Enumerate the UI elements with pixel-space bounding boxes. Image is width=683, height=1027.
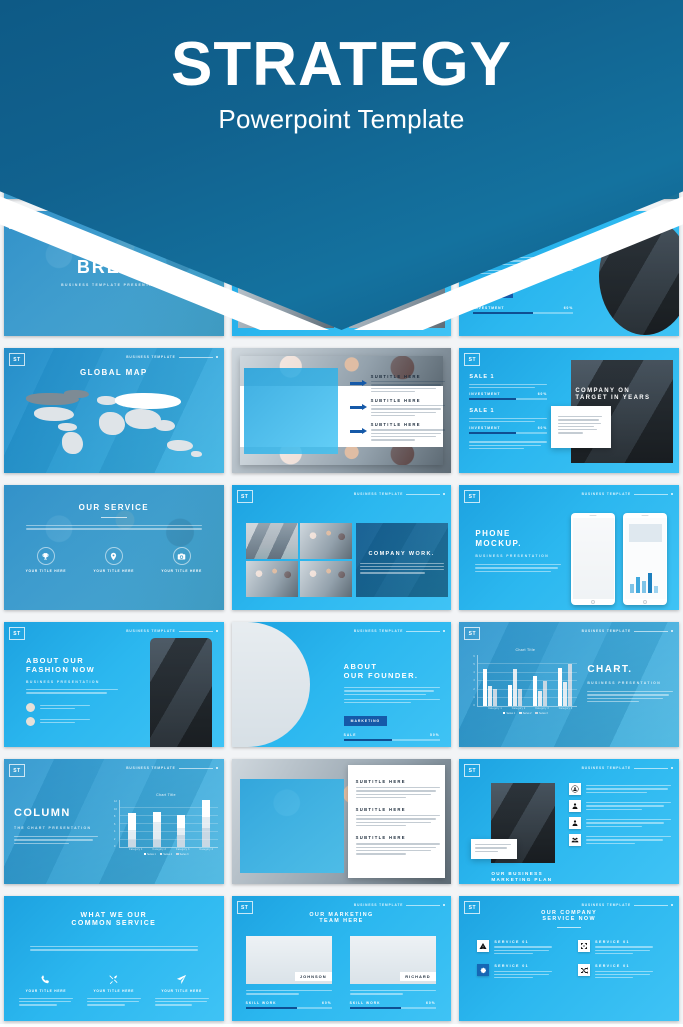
plot-area bbox=[477, 655, 577, 707]
x-tick: Category 2 bbox=[512, 707, 526, 710]
fashion-phone-photo bbox=[150, 638, 212, 747]
common-service-items: YOUR TITLE HERE YOUR TITLE HERE YOUR TIT… bbox=[12, 974, 216, 1006]
y-tick: 0 bbox=[114, 845, 117, 848]
list-item[interactable]: SERVICE 01 bbox=[477, 940, 564, 954]
slide-fashion[interactable]: ST BUSINESS TEMPLATE ABOUT OUR FASHION N… bbox=[4, 622, 224, 747]
slide-cover-a bbox=[232, 6, 452, 199]
slide-company-service[interactable]: ST BUSINESS TEMPLATE OUR COMPANY SERVICE… bbox=[459, 896, 679, 1021]
slide-cell-founder[interactable]: BUSINESS TEMPLATE ABOUT OUR FOUNDER. MAR… bbox=[228, 616, 456, 753]
x-tick: Category 1 bbox=[488, 707, 502, 710]
slide-cell-sale[interactable]: ST SALE 1 INVESTMENT60% SALE 1 INVESTMEN… bbox=[455, 342, 683, 479]
slide-stats[interactable]: 647 CLIENTS PRO bbox=[4, 6, 224, 199]
slide-cell-subtitles-b[interactable]: SUBTITLE HERE SUBTITLE HERE SUBTITLE HER… bbox=[228, 753, 456, 890]
member-bar-value: 60% bbox=[426, 1001, 436, 1005]
company-service-title-2: SERVICE NOW bbox=[459, 916, 679, 922]
user-badge-icon bbox=[569, 783, 581, 795]
member-name: RICHARD bbox=[400, 972, 435, 981]
slide-chart[interactable]: ST BUSINESS TEMPLATE Chart Title 6 5 4 3 bbox=[459, 622, 679, 747]
work-photo-3 bbox=[246, 561, 298, 597]
user-icon bbox=[569, 817, 581, 829]
rule-dot bbox=[216, 630, 218, 632]
slide-top-right-label: BUSINESS TEMPLATE bbox=[354, 629, 445, 633]
slide-cell-marketing-plan[interactable]: ST BUSINESS TEMPLATE OUR BUSINESS MARKET… bbox=[455, 753, 683, 890]
rule-line bbox=[179, 220, 213, 221]
rule-line bbox=[406, 494, 440, 495]
rule-dot bbox=[443, 630, 445, 632]
slide-cell-subtitles-a[interactable]: SUBTITLE HERE SUBTITLE HERE bbox=[228, 342, 456, 479]
slide-photo-pair[interactable] bbox=[232, 211, 452, 336]
common-service-title-2: COMMON SERVICE bbox=[4, 920, 224, 928]
offices-bar-value: 60% bbox=[564, 306, 574, 310]
phone-mockup-left bbox=[571, 513, 615, 605]
team-title-2: TEAM HERE bbox=[232, 918, 452, 924]
y-tick: 6 bbox=[114, 823, 117, 826]
chart-legend: Series 1 Series 2 Series 3 bbox=[473, 712, 577, 715]
slide-grid: 647 CLIENTS PRO bbox=[0, 0, 683, 1024]
list-item[interactable]: SUBTITLE HERE bbox=[350, 374, 450, 392]
list-item[interactable]: YOUR TITLE HERE bbox=[93, 547, 134, 574]
slide-top-right-label: BUSINESS TEMPLATE bbox=[354, 903, 445, 907]
bullet-dot bbox=[26, 703, 35, 712]
top-right-text: BUSINESS TEMPLATE bbox=[582, 903, 631, 907]
list-item[interactable] bbox=[569, 834, 671, 846]
member-name: JOHNSON bbox=[295, 972, 332, 981]
arrow-right-icon bbox=[350, 404, 367, 411]
slide-cell-team[interactable]: ST BUSINESS TEMPLATE OUR MARKETING TEAM … bbox=[228, 890, 456, 1027]
work-photo-1 bbox=[246, 523, 298, 559]
rule-line bbox=[179, 768, 213, 769]
slide-founder[interactable]: BUSINESS TEMPLATE ABOUT OUR FOUNDER. MAR… bbox=[232, 622, 452, 747]
offices-title-2: OUR OFFICES. bbox=[473, 240, 583, 249]
legend-item: Series 3 bbox=[176, 853, 188, 856]
member-bar-label: SKILL WORK bbox=[246, 1001, 277, 1005]
common-service-title-1: WHAT WE OUR bbox=[4, 912, 224, 920]
item-title: YOUR TITLE HERE bbox=[161, 989, 202, 994]
item-title: YOUR TITLE HERE bbox=[93, 989, 134, 994]
sale-progress-bar-1 bbox=[469, 398, 547, 400]
global-map-title: GLOBAL MAP bbox=[4, 368, 224, 378]
location-pin-icon bbox=[105, 547, 123, 565]
offices-bar-label: INVESTMENT bbox=[473, 306, 504, 310]
member-bar-label: SKILL WORK bbox=[350, 1001, 381, 1005]
blue-tint-overlay bbox=[4, 6, 224, 199]
st-badge: ST bbox=[9, 216, 25, 229]
slide-global-map[interactable]: ST BUSINESS TEMPLATE GLOBAL MAP bbox=[4, 348, 224, 473]
slide-cell-company-work[interactable]: ST BUSINESS TEMPLATE COMPANY WORK. bbox=[228, 479, 456, 616]
top-right-text: BUSINESS TEMPLATE bbox=[354, 903, 403, 907]
list-item[interactable]: SUBTITLE HERE bbox=[350, 422, 450, 440]
st-badge: ST bbox=[9, 764, 25, 777]
photo-right bbox=[349, 219, 445, 328]
paper-plane-icon bbox=[176, 974, 187, 985]
top-right-text: BUSINESS TEMPLATE bbox=[582, 766, 631, 770]
rule-line bbox=[634, 905, 668, 906]
rule-dot bbox=[671, 630, 673, 632]
top-right-text: BUSINESS TEMPLATE bbox=[354, 492, 403, 496]
slide-cell-global-map[interactable]: ST BUSINESS TEMPLATE GLOBAL MAP bbox=[0, 342, 228, 479]
team-member-johnson[interactable]: JOHNSON SKILL WORK60% bbox=[246, 936, 332, 1009]
y-tick: 1 bbox=[473, 696, 475, 699]
our-service-title: OUR SERVICE bbox=[4, 503, 224, 513]
slide-cell-company-service[interactable]: ST BUSINESS TEMPLATE OUR COMPANY SERVICE… bbox=[455, 890, 683, 1027]
phone-title-2: MOCKUP. bbox=[475, 539, 561, 549]
list-item[interactable]: SERVICE 01 bbox=[578, 940, 665, 954]
subtitle-heading: SUBTITLE HERE bbox=[371, 374, 445, 379]
offices-progress-bar bbox=[473, 312, 573, 314]
phone-mockup-right bbox=[623, 513, 667, 605]
slide-cell-stats[interactable]: 647 CLIENTS PRO bbox=[0, 0, 228, 205]
rule-line bbox=[179, 357, 213, 358]
sale-headline-1: COMPANY ON bbox=[575, 388, 671, 395]
slide-cover-b bbox=[459, 6, 679, 199]
gear-icon bbox=[477, 964, 489, 976]
y-tick: 5 bbox=[473, 663, 475, 666]
item-title: SERVICE 01 bbox=[595, 940, 653, 944]
top-right-text: BUSINESS TEMPLATE bbox=[126, 766, 175, 770]
y-tick: 8 bbox=[114, 815, 117, 818]
stat-label: CLIENTS bbox=[20, 76, 74, 81]
list-item[interactable]: YOUR TITLE HERE bbox=[151, 974, 213, 1006]
sale-bar-value-2: 60% bbox=[538, 426, 548, 430]
stat-second-label: PRO bbox=[104, 68, 154, 73]
founder-title-1: ABOUT bbox=[344, 662, 440, 671]
slide-cell-column[interactable]: ST BUSINESS TEMPLATE COLUMN THE CHART PR… bbox=[0, 753, 228, 890]
founder-photo bbox=[232, 622, 310, 747]
y-tick: 4 bbox=[473, 671, 475, 674]
template-preview-board: 647 CLIENTS PRO bbox=[0, 0, 683, 1024]
rule-dot bbox=[216, 767, 218, 769]
x-tick: Category 1 bbox=[129, 848, 143, 851]
item-title: YOUR TITLE HERE bbox=[26, 569, 67, 574]
slide-top-right-label: BUSINESS TEMPLATE bbox=[582, 492, 673, 496]
grouped-bar-chart: Chart Title 6 5 4 3 2 1 0 bbox=[473, 648, 577, 715]
item-title: YOUR TITLE HERE bbox=[93, 569, 134, 574]
slide-our-service[interactable]: OUR SERVICE YOUR TITLE HERE bbox=[4, 485, 224, 610]
item-title: YOUR TITLE HERE bbox=[161, 569, 202, 574]
rule-line bbox=[179, 631, 213, 632]
item-title: SERVICE 01 bbox=[494, 964, 552, 968]
slide-cell-cover-b[interactable] bbox=[455, 0, 683, 205]
slide-cell-our-service[interactable]: OUR SERVICE YOUR TITLE HERE bbox=[0, 479, 228, 616]
rule-line bbox=[634, 494, 668, 495]
list-item[interactable]: SUBTITLE HERE bbox=[356, 779, 440, 798]
slide-cell-chart[interactable]: ST BUSINESS TEMPLATE Chart Title 6 5 4 3 bbox=[455, 616, 683, 753]
founder-title-2: OUR FOUNDER. bbox=[344, 671, 440, 680]
st-badge: ST bbox=[464, 490, 480, 503]
slide-marketing-plan[interactable]: ST BUSINESS TEMPLATE OUR BUSINESS MARKET… bbox=[459, 759, 679, 884]
phone-subtitle: BUSINESS PRESENTATION bbox=[475, 554, 561, 558]
phone-title-1: PHONE bbox=[475, 529, 561, 539]
x-tick: Category 3 bbox=[535, 707, 549, 710]
sale-title-2: SALE 1 bbox=[469, 408, 547, 415]
member-bar-value: 60% bbox=[322, 1001, 332, 1005]
chart-title: Chart Title bbox=[473, 648, 577, 652]
rule-dot bbox=[216, 356, 218, 358]
fashion-title-2: FASHION NOW bbox=[26, 665, 118, 674]
photo-left bbox=[238, 219, 334, 328]
st-badge: ST bbox=[237, 490, 253, 503]
slide-top-right-label: BUSINESS TEMPLATE bbox=[126, 766, 217, 770]
slide-break[interactable]: ST BUSINESS TEMPLATE BREAK BUSINESS TEMP… bbox=[4, 211, 224, 336]
st-badge: ST bbox=[464, 627, 480, 640]
slide-cell-photo-pair[interactable] bbox=[228, 205, 456, 342]
x-tick: Category 4 bbox=[559, 707, 573, 710]
subtitle-list: SUBTITLE HERE SUBTITLE HERE SUBTITLE HER… bbox=[356, 779, 440, 855]
list-item[interactable]: YOUR TITLE HERE bbox=[15, 974, 77, 1006]
rule-line bbox=[406, 905, 440, 906]
subtitle-heading: SUBTITLE HERE bbox=[371, 422, 445, 427]
column-title: COLUMN bbox=[14, 807, 98, 820]
sale-progress-bar-2 bbox=[469, 432, 547, 434]
st-badge: ST bbox=[9, 627, 25, 640]
list-item[interactable]: SUBTITLE HERE bbox=[350, 398, 450, 416]
fashion-subtitle: BUSINESS PRESENTATION bbox=[26, 680, 118, 684]
world-map bbox=[14, 388, 216, 467]
legend-item: Series 2 bbox=[160, 853, 172, 856]
list-item[interactable] bbox=[569, 800, 671, 812]
slide-cell-phone-mockup[interactable]: ST BUSINESS TEMPLATE PHONE MOCKUP. BUSIN… bbox=[455, 479, 683, 616]
stacked-bar-chart: Chart Title 12 10 8 6 4 2 0 bbox=[114, 793, 218, 856]
subtitle-heading: SUBTITLE HERE bbox=[371, 398, 445, 403]
st-badge: ST bbox=[9, 353, 25, 366]
slide-cell-cover-a[interactable] bbox=[228, 0, 456, 205]
arrow-right-icon bbox=[350, 380, 367, 387]
column-subtitle: THE CHART PRESENTATION bbox=[14, 826, 98, 830]
legend-item: Series 3 bbox=[535, 712, 547, 715]
slide-cell-fashion[interactable]: ST BUSINESS TEMPLATE ABOUT OUR FASHION N… bbox=[0, 616, 228, 753]
rule-dot bbox=[443, 904, 445, 906]
y-tick: 4 bbox=[114, 830, 117, 833]
marketing-plan-rows bbox=[569, 783, 671, 846]
y-tick: 0 bbox=[473, 704, 475, 707]
rule-dot bbox=[216, 219, 218, 221]
founder-progress-bar bbox=[344, 739, 440, 741]
founder-bar-value: 50% bbox=[430, 733, 440, 737]
member-progress-bar bbox=[246, 1007, 332, 1009]
y-tick: 10 bbox=[114, 808, 117, 811]
sale-bar-label-2: INVESTMENT bbox=[469, 426, 500, 430]
list-item[interactable]: SERVICE 01 bbox=[578, 964, 665, 978]
legend-item: Series 1 bbox=[144, 853, 156, 856]
slide-top-right-label: BUSINESS TEMPLATE bbox=[582, 766, 673, 770]
stat-number: 647 bbox=[20, 58, 74, 76]
break-title: BREAK bbox=[4, 257, 224, 279]
st-badge: ST bbox=[464, 353, 480, 366]
phone-icon bbox=[40, 974, 51, 985]
break-subtitle: BUSINESS TEMPLATE PRESENTATION bbox=[4, 283, 224, 287]
slide-top-right-label: BUSINESS TEMPLATE bbox=[582, 629, 673, 633]
rule-line bbox=[406, 631, 440, 632]
bullet-dot bbox=[26, 717, 35, 726]
y-tick: 2 bbox=[114, 838, 117, 841]
slide-common-service[interactable]: WHAT WE OUR COMMON SERVICE YOUR TITLE HE… bbox=[4, 896, 224, 1021]
list-item[interactable]: SUBTITLE HERE bbox=[356, 807, 440, 826]
arrow-right-icon bbox=[350, 428, 367, 435]
founder-marketing-button[interactable]: MARKETING bbox=[344, 716, 388, 726]
st-badge: ST bbox=[464, 764, 480, 777]
slide-phone-mockup[interactable]: ST BUSINESS TEMPLATE PHONE MOCKUP. BUSIN… bbox=[459, 485, 679, 610]
list-item[interactable] bbox=[569, 817, 671, 829]
y-tick: 12 bbox=[114, 800, 117, 803]
chart-legend: Series 1 Series 2 Series 3 bbox=[114, 853, 218, 856]
rule-dot bbox=[671, 767, 673, 769]
camera-icon bbox=[173, 547, 191, 565]
top-right-text: BUSINESS TEMPLATE bbox=[582, 492, 631, 496]
slide-top-right-label: BUSINESS TEMPLATE bbox=[126, 355, 217, 359]
chart-slide-subtitle: BUSINESS PRESENTATION bbox=[587, 681, 673, 685]
item-title: SERVICE 01 bbox=[494, 940, 552, 944]
top-right-text: BUSINESS TEMPLATE bbox=[126, 355, 175, 359]
chart-slide-title: CHART. bbox=[587, 664, 673, 676]
list-item[interactable]: SERVICE 01 bbox=[477, 964, 564, 978]
slide-company-work[interactable]: ST BUSINESS TEMPLATE COMPANY WORK. bbox=[232, 485, 452, 610]
offices-business-button[interactable]: BUSINESS bbox=[473, 288, 512, 298]
list-item[interactable]: YOUR TITLE HERE bbox=[161, 547, 202, 574]
trophy-icon bbox=[37, 547, 55, 565]
list-item[interactable]: YOUR TITLE HERE bbox=[26, 547, 67, 574]
slide-cell-common-service[interactable]: WHAT WE OUR COMMON SERVICE YOUR TITLE HE… bbox=[0, 890, 228, 1027]
y-tick: 3 bbox=[473, 679, 475, 682]
subtitle-heading: SUBTITLE HERE bbox=[356, 835, 440, 840]
list-item[interactable] bbox=[569, 783, 671, 795]
rule-dot bbox=[671, 904, 673, 906]
marketing-plan-title-2: MARKETING PLAN bbox=[491, 877, 581, 883]
list-item[interactable]: SUBTITLE HERE bbox=[356, 835, 440, 854]
x-tick: Category 4 bbox=[199, 848, 213, 851]
slide-team[interactable]: ST BUSINESS TEMPLATE OUR MARKETING TEAM … bbox=[232, 896, 452, 1021]
shuffle-icon bbox=[578, 964, 590, 976]
fashion-title-1: ABOUT OUR bbox=[26, 656, 118, 665]
legend-item: Series 1 bbox=[503, 712, 515, 715]
sale-title-1: SALE 1 bbox=[469, 374, 547, 381]
item-title: SERVICE 01 bbox=[595, 964, 653, 968]
our-service-items: YOUR TITLE HERE YOUR TITLE HERE YOUR TIT… bbox=[12, 547, 216, 574]
slide-column[interactable]: ST BUSINESS TEMPLATE COLUMN THE CHART PR… bbox=[4, 759, 224, 884]
top-right-text: BUSINESS TEMPLATE bbox=[126, 629, 175, 633]
team-member-richard[interactable]: RICHARD SKILL WORK60% bbox=[350, 936, 436, 1009]
subtitle-heading: SUBTITLE HERE bbox=[356, 807, 440, 812]
slide-top-right-label: BUSINESS TEMPLATE bbox=[126, 218, 217, 222]
company-service-items: SERVICE 01 SERVICE 01 bbox=[477, 940, 665, 978]
offices-title-1: ABOUT bbox=[473, 231, 583, 240]
slide-top-right-label: BUSINESS TEMPLATE bbox=[126, 629, 217, 633]
top-right-text: BUSINESS TEMPLATE bbox=[582, 629, 631, 633]
subtitle-list: SUBTITLE HERE SUBTITLE HERE bbox=[350, 374, 450, 441]
users-group-icon bbox=[569, 834, 581, 846]
rule-line bbox=[634, 631, 668, 632]
member-progress-bar bbox=[350, 1007, 436, 1009]
expand-arrows-icon bbox=[578, 940, 590, 952]
sale-bar-value-1: 60% bbox=[538, 392, 548, 396]
slide-cell-break[interactable]: ST BUSINESS TEMPLATE BREAK BUSINESS TEMP… bbox=[0, 205, 228, 342]
slide-top-right-label: BUSINESS TEMPLATE bbox=[354, 492, 445, 496]
legend-item: Series 2 bbox=[519, 712, 531, 715]
tools-icon bbox=[108, 974, 119, 985]
top-right-text: BUSINESS TEMPLATE bbox=[126, 218, 175, 222]
y-tick: 2 bbox=[473, 688, 475, 691]
top-right-text: BUSINESS TEMPLATE bbox=[354, 629, 403, 633]
slide-subtitles-b[interactable]: SUBTITLE HERE SUBTITLE HERE SUBTITLE HER… bbox=[232, 759, 452, 884]
slide-top-right-label: BUSINESS TEMPLATE bbox=[582, 903, 673, 907]
offices-photo bbox=[599, 217, 679, 335]
chart-title: Chart Title bbox=[114, 793, 218, 797]
work-photo-4 bbox=[300, 561, 352, 597]
slide-offices[interactable]: ABOUT OUR OFFICES. BUSINESS INVESTMENT 6… bbox=[459, 211, 679, 336]
item-title: YOUR TITLE HERE bbox=[26, 989, 67, 994]
slide-subtitles-a[interactable]: SUBTITLE HERE SUBTITLE HERE bbox=[232, 348, 452, 473]
list-item[interactable]: YOUR TITLE HERE bbox=[83, 974, 145, 1006]
rule-line bbox=[634, 768, 668, 769]
company-work-title: COMPANY WORK. bbox=[360, 551, 444, 558]
rule-dot bbox=[671, 493, 673, 495]
founder-bar-label: SALE bbox=[344, 733, 357, 737]
y-tick: 6 bbox=[473, 655, 475, 658]
photo-blue-block bbox=[244, 368, 338, 454]
plot-area bbox=[119, 800, 218, 848]
slide-cell-offices[interactable]: ABOUT OUR OFFICES. BUSINESS INVESTMENT 6… bbox=[455, 205, 683, 342]
photo-blue-block bbox=[240, 779, 344, 873]
sale-bar-label-1: INVESTMENT bbox=[469, 392, 500, 396]
subtitle-heading: SUBTITLE HERE bbox=[356, 779, 440, 784]
work-photo-2 bbox=[300, 523, 352, 559]
x-tick: Category 2 bbox=[152, 848, 166, 851]
user-icon bbox=[569, 800, 581, 812]
x-tick: Category 3 bbox=[176, 848, 190, 851]
sale-headline-2: TARGET IN YEARS bbox=[575, 395, 671, 402]
warning-triangle-icon bbox=[477, 940, 489, 952]
slide-sale[interactable]: ST SALE 1 INVESTMENT60% SALE 1 INVESTMEN… bbox=[459, 348, 679, 473]
rule-dot bbox=[443, 493, 445, 495]
